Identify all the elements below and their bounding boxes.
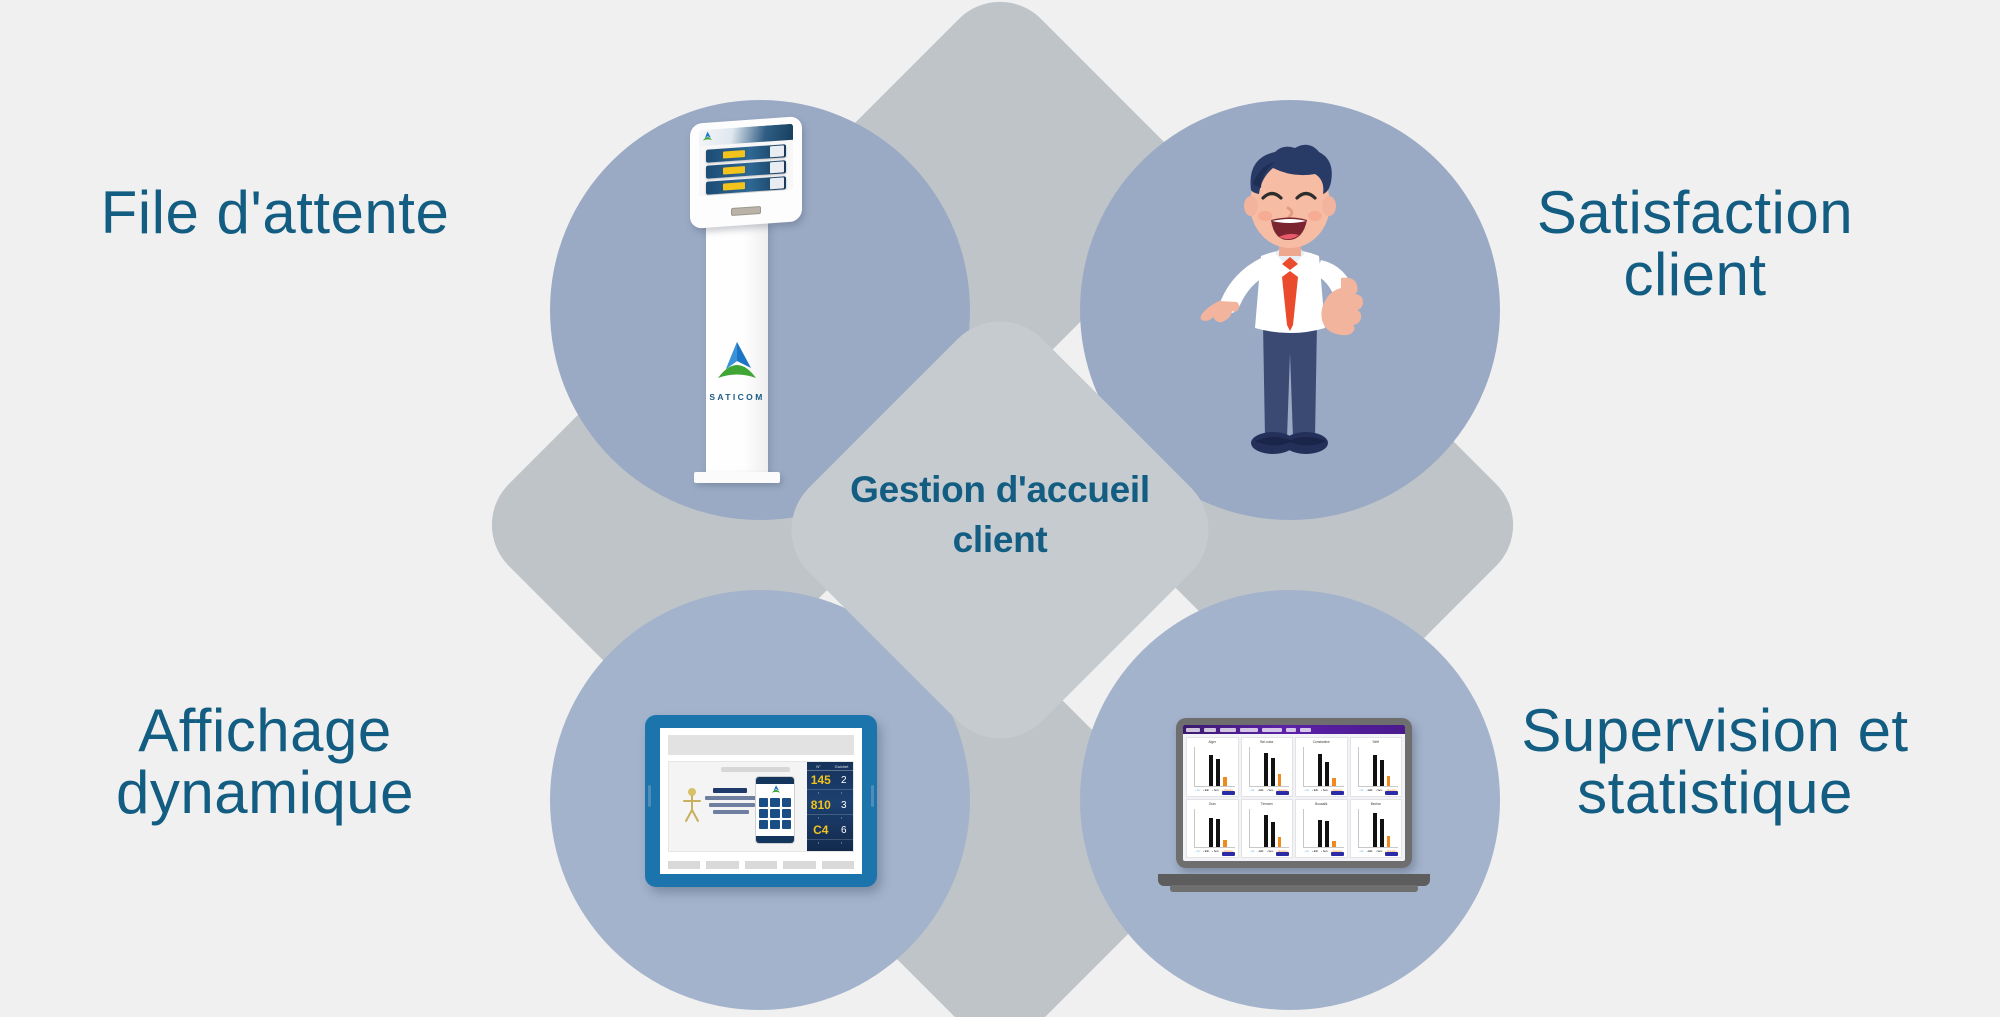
kiosk-icon: SATICOM (672, 120, 802, 500)
phone-statusbar (756, 777, 794, 784)
chart-plot-area (1358, 747, 1399, 787)
chart-legend-item: ▪ Serv. (1376, 789, 1383, 792)
chart-bars (1365, 747, 1393, 786)
tablet-text-line (709, 803, 755, 807)
queue-row: 145 2 (807, 771, 853, 790)
chart-bars (1310, 809, 1338, 848)
chart-plot-area (1249, 809, 1290, 849)
laptop-front-edge (1170, 885, 1418, 892)
kiosk-ticket-slot (731, 206, 761, 216)
chart-plot-area (1249, 747, 1290, 787)
chart-card-title: Tlemcen (1244, 802, 1291, 806)
laptop-lid: Alger▪ Att.▪ Edit.▪ Serv.▪ AbandonBel-ou… (1176, 718, 1412, 868)
queue-ticket-number: C4 (807, 823, 835, 837)
tablet-display-icon: N° Guichet 145 2 ▪▪ 810 3 ▪▪ (645, 715, 877, 887)
chart-legend-item: ▪ Serv. (1212, 789, 1219, 792)
tablet-phone-mockup (755, 776, 795, 844)
chart-bars (1310, 747, 1338, 786)
chart-plot-area (1303, 809, 1344, 849)
chart-bar (1373, 755, 1377, 786)
tablet-header-bar (668, 735, 854, 755)
tablet-text-line (705, 796, 759, 800)
kiosk-screen-logo-icon (702, 130, 713, 142)
chart-bar (1373, 813, 1377, 847)
phone-bottom-bar (756, 836, 794, 843)
chart-card-title: Oran (1189, 802, 1236, 806)
queue-row: C4 6 (807, 821, 853, 840)
chart-bar (1264, 753, 1268, 786)
queue-header: N° Guichet (807, 762, 853, 771)
chart-legend-item: ▪ Edit. (1367, 850, 1373, 853)
chart-card-title: Sétif (1353, 740, 1400, 744)
dashboard-chart-card: Constantine▪ Att.▪ Edit.▪ Serv.▪ Abandon (1295, 737, 1348, 797)
chart-legend-item: ▪ Att. (1304, 789, 1309, 792)
queue-ticket-number: 810 (807, 798, 835, 812)
chart-detail-button[interactable] (1276, 791, 1289, 795)
chart-legend-item: ▪ Att. (1250, 850, 1255, 853)
center-title: Gestion d'accueil client (760, 465, 1240, 565)
chart-legend-item: ▪ Att. (1195, 850, 1200, 853)
kiosk-screen (699, 124, 793, 197)
chart-bar (1332, 841, 1336, 847)
chart-legend-item: ▪ Edit. (1203, 850, 1209, 853)
dashboard-chart-card: Bechar▪ Att.▪ Edit.▪ Serv.▪ Abandon (1350, 799, 1403, 859)
chart-detail-button[interactable] (1222, 852, 1235, 856)
chart-card-title: Alger (1189, 740, 1236, 744)
chart-legend-item: ▪ Att. (1250, 789, 1255, 792)
chart-plot-area (1194, 747, 1235, 787)
chart-plot-area (1194, 809, 1235, 849)
queue-subrow: ▪▪ (807, 815, 853, 821)
chart-bar (1325, 762, 1329, 786)
kiosk-head (690, 116, 802, 229)
chart-legend-item: ▪ Serv. (1267, 789, 1274, 792)
dashboard-chart-card: Oran▪ Att.▪ Edit.▪ Serv.▪ Abandon (1186, 799, 1239, 859)
chart-bar (1380, 819, 1384, 847)
chart-legend-item: ▪ Edit. (1203, 789, 1209, 792)
queue-header-desk: Guichet (830, 762, 853, 770)
phone-logo-icon (770, 784, 782, 794)
chart-detail-button[interactable] (1385, 791, 1398, 795)
dashboard-chart-card: Tlemcen▪ Att.▪ Edit.▪ Serv.▪ Abandon (1241, 799, 1294, 859)
chart-bars (1256, 809, 1284, 848)
chart-bar (1332, 778, 1336, 786)
chart-bar (1271, 758, 1275, 786)
chart-bar (1278, 774, 1282, 786)
chart-card-title: Bouaalik (1298, 802, 1345, 806)
chart-detail-button[interactable] (1331, 791, 1344, 795)
chart-detail-button[interactable] (1222, 791, 1235, 795)
dashboard-chart-card: Sétif▪ Att.▪ Edit.▪ Serv.▪ Abandon (1350, 737, 1403, 797)
phone-logo-area (756, 784, 794, 795)
chart-bars (1365, 809, 1393, 848)
label-line-1: Satisfaction (1460, 182, 1930, 244)
chart-plot-area (1358, 809, 1399, 849)
chart-bar (1380, 760, 1384, 785)
queue-desk-number: 2 (835, 775, 853, 786)
chart-legend-item: ▪ Edit. (1312, 789, 1318, 792)
chart-bars (1256, 747, 1284, 786)
chart-legend-item: ▪ Edit. (1258, 850, 1264, 853)
chart-bar (1325, 821, 1329, 847)
chart-bar (1216, 759, 1220, 786)
dashboard-chart-card: Bouaalik▪ Att.▪ Edit.▪ Serv.▪ Abandon (1295, 799, 1348, 859)
dashboard-chart-card: Alger▪ Att.▪ Edit.▪ Serv.▪ Abandon (1186, 737, 1239, 797)
kiosk-pillar: SATICOM (706, 220, 768, 478)
saticom-logo-icon (714, 338, 760, 384)
chart-legend-item: ▪ Edit. (1367, 789, 1373, 792)
chart-card-title: Bechar (1353, 802, 1400, 806)
tablet-footer-bar (668, 861, 854, 869)
chart-legend-item: ▪ Att. (1359, 789, 1364, 792)
tablet-queue-panel: N° Guichet 145 2 ▪▪ 810 3 ▪▪ (807, 762, 853, 851)
infographic-canvas: SATICOM (0, 0, 2000, 1017)
chart-card-title: Bel-ouba (1244, 740, 1291, 744)
kiosk-screen-topbar (699, 124, 793, 147)
label-line-2: client (1460, 244, 1930, 306)
queue-desk-number: 6 (835, 825, 853, 836)
happy-businessman-icon (1175, 138, 1405, 483)
tablet-button-left (648, 785, 651, 807)
label-affichage: Affichage dynamique (30, 700, 500, 824)
chart-bar (1216, 819, 1220, 847)
queue-row: 810 3 (807, 796, 853, 815)
chart-bar (1271, 822, 1275, 847)
chart-bar (1264, 815, 1268, 847)
tablet-text-line (713, 788, 747, 793)
tablet-screen: N° Guichet 145 2 ▪▪ 810 3 ▪▪ (660, 728, 862, 874)
chart-legend-item: ▪ Att. (1359, 850, 1364, 853)
chart-bar (1387, 836, 1391, 847)
laptop-dashboard-icon: Alger▪ Att.▪ Edit.▪ Serv.▪ AbandonBel-ou… (1158, 718, 1430, 896)
chart-bars (1201, 747, 1229, 786)
tablet-person-icon (681, 786, 703, 824)
quadrant-circle-supervision[interactable]: Alger▪ Att.▪ Edit.▪ Serv.▪ AbandonBel-ou… (1080, 590, 1500, 1010)
chart-bar (1278, 837, 1282, 847)
label-file-attente: File d'attente (40, 182, 510, 244)
chart-legend-item: ▪ Edit. (1312, 850, 1318, 853)
queue-header-ticket: N° (807, 762, 830, 770)
chart-legend-item: ▪ Att. (1304, 850, 1309, 853)
chart-bar (1223, 840, 1227, 847)
saticom-brand-text: SATICOM (709, 392, 764, 402)
dashboard-navbar[interactable] (1183, 725, 1405, 734)
queue-desk-number: 3 (835, 800, 853, 811)
chart-bars (1201, 809, 1229, 848)
queue-ticket-number: 145 (807, 773, 835, 787)
chart-legend-item: ▪ Edit. (1258, 789, 1264, 792)
chart-legend-item: ▪ Serv. (1267, 850, 1274, 853)
chart-bar (1209, 818, 1213, 847)
dashboard-chart-card: Bel-ouba▪ Att.▪ Edit.▪ Serv.▪ Abandon (1241, 737, 1294, 797)
chart-detail-button[interactable] (1385, 852, 1398, 856)
chart-card-title: Constantine (1298, 740, 1345, 744)
queue-subrow: ▪▪ (807, 840, 853, 846)
label-line-1: File d'attente (40, 182, 510, 244)
chart-bar (1318, 754, 1322, 786)
laptop-screen: Alger▪ Att.▪ Edit.▪ Serv.▪ AbandonBel-ou… (1183, 725, 1405, 861)
label-line-2: dynamique (30, 762, 500, 824)
chart-bar (1318, 820, 1322, 847)
label-line-1: Affichage (30, 700, 500, 762)
chart-bar (1209, 755, 1213, 785)
chart-legend-item: ▪ Serv. (1376, 850, 1383, 853)
tablet-info-panel (669, 762, 807, 851)
center-title-line2: client (760, 515, 1240, 565)
queue-subrow: ▪▪ (807, 790, 853, 796)
chart-legend-item: ▪ Serv. (1321, 850, 1328, 853)
label-line-2: statistique (1455, 762, 1975, 824)
tablet-content: N° Guichet 145 2 ▪▪ 810 3 ▪▪ (668, 761, 854, 852)
dashboard-chart-grid: Alger▪ Att.▪ Edit.▪ Serv.▪ AbandonBel-ou… (1183, 734, 1405, 861)
label-line-1: Supervision et (1455, 700, 1975, 762)
chart-bar (1387, 776, 1391, 785)
tablet-button-right (871, 785, 874, 807)
chart-legend-item: ▪ Att. (1195, 789, 1200, 792)
chart-detail-button[interactable] (1276, 852, 1289, 856)
chart-bar (1223, 777, 1227, 785)
kiosk-service-row[interactable] (706, 176, 786, 195)
chart-legend-item: ▪ Serv. (1321, 789, 1328, 792)
label-supervision: Supervision et statistique (1455, 700, 1975, 824)
phone-button-grid (756, 795, 794, 832)
tablet-text-line (713, 810, 749, 814)
chart-plot-area (1303, 747, 1344, 787)
tablet-message-bar (721, 767, 790, 772)
chart-detail-button[interactable] (1331, 852, 1344, 856)
center-title-line1: Gestion d'accueil (760, 465, 1240, 515)
chart-legend-item: ▪ Serv. (1212, 850, 1219, 853)
label-satisfaction: Satisfaction client (1460, 182, 1930, 306)
